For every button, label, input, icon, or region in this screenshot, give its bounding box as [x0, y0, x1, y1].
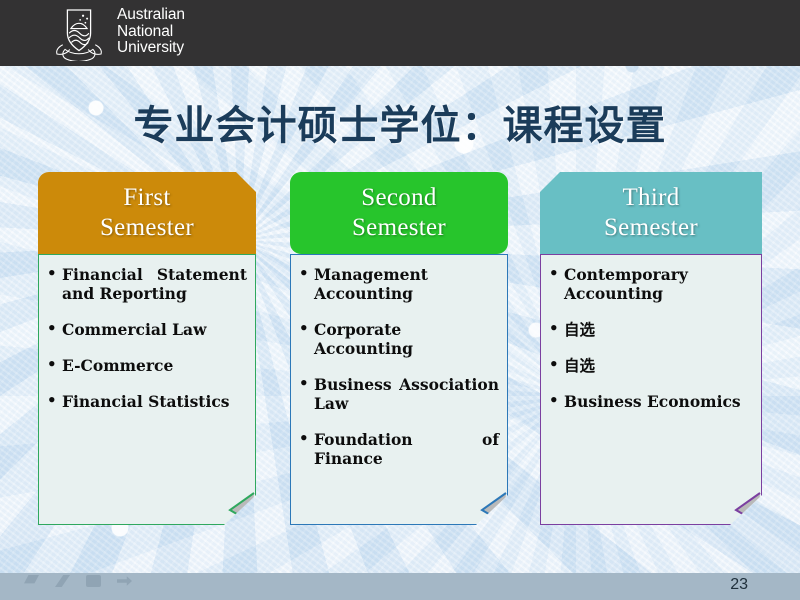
- page-fold-corner-icon: [471, 490, 507, 524]
- semester-card-third-header: Third Semester: [540, 172, 762, 254]
- page-fold-corner-icon: [725, 490, 761, 524]
- list-item: Business Association Law: [297, 375, 499, 413]
- semester-card-first: First Semester Financial Statement and R…: [38, 172, 256, 525]
- course-list-first: Financial Statement and Reporting Commer…: [39, 255, 255, 411]
- list-item: E-Commerce: [45, 356, 247, 375]
- semester-card-second: Second Semester Management Accounting Co…: [290, 172, 508, 525]
- list-item: Corporate Accounting: [297, 320, 499, 358]
- list-item: Business Economics: [547, 392, 753, 411]
- list-item: Contemporary Accounting: [547, 265, 753, 303]
- anu-crest-icon: [50, 3, 108, 61]
- course-list-second: Management Accounting Corporate Accounti…: [291, 255, 507, 468]
- slide-title: 专业会计硕士学位：课程设置: [0, 93, 800, 151]
- list-item: Financial Statement and Reporting: [45, 265, 247, 303]
- presentation-slide: Australian National University 专业会计硕士学位：…: [0, 0, 800, 600]
- semester-card-third-body: Contemporary Accounting 自选 自选 Business E…: [540, 254, 762, 525]
- semester-card-first-header: First Semester: [38, 172, 256, 254]
- semester-card-second-body: Management Accounting Corporate Accounti…: [290, 254, 508, 525]
- footer-decoration: [24, 575, 132, 587]
- semester-card-first-body: Financial Statement and Reporting Commer…: [38, 254, 256, 525]
- list-item: Management Accounting: [297, 265, 499, 303]
- footer-glyph-3-icon: [86, 575, 101, 587]
- page-fold-corner-icon: [219, 490, 255, 524]
- slide-footer-bar: 23: [0, 573, 800, 600]
- list-item: Commercial Law: [45, 320, 247, 339]
- list-item: Financial Statistics: [45, 392, 247, 411]
- footer-glyph-4-icon: [117, 575, 132, 587]
- list-item: Foundation of Finance: [297, 430, 499, 468]
- semester-card-second-header: Second Semester: [290, 172, 508, 254]
- anu-wordmark: Australian National University: [117, 7, 185, 57]
- course-list-third: Contemporary Accounting 自选 自选 Business E…: [541, 255, 761, 411]
- slide-header-bar: Australian National University: [0, 0, 800, 66]
- anu-logo: Australian National University: [50, 3, 185, 61]
- footer-glyph-2-icon: [55, 575, 70, 587]
- list-item: 自选: [547, 356, 753, 375]
- semester-card-third: Third Semester Contemporary Accounting 自…: [540, 172, 762, 525]
- list-item: 自选: [547, 320, 753, 339]
- page-number: 23: [730, 576, 748, 594]
- footer-glyph-1-icon: [24, 575, 39, 587]
